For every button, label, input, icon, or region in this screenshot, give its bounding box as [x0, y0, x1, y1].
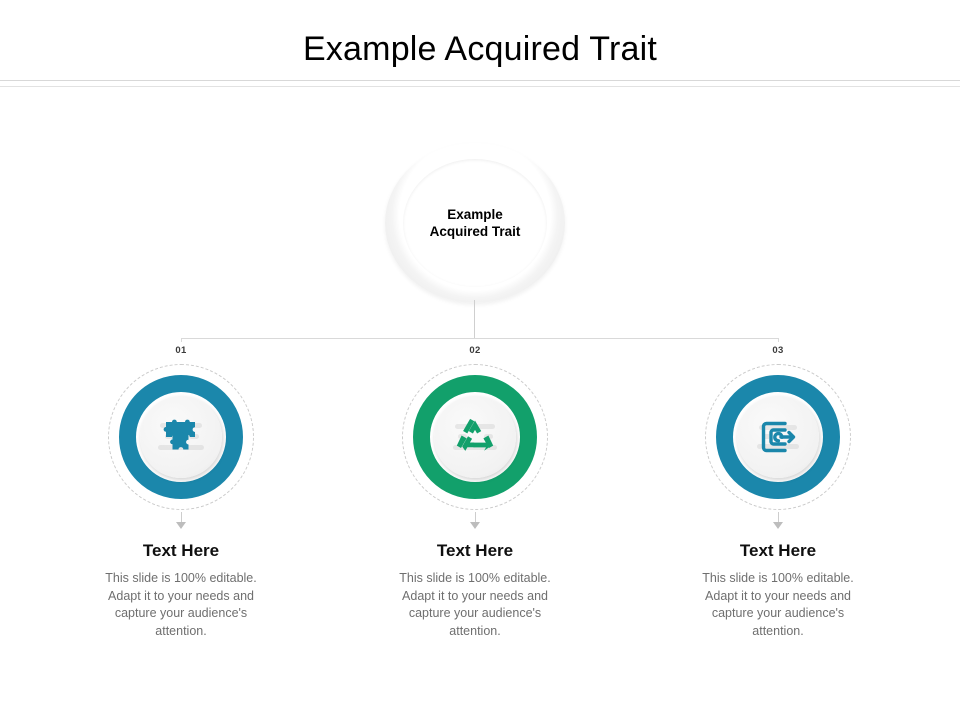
- center-hub-circle[interactable]: Example Acquired Trait: [385, 143, 565, 303]
- marker-arrow-down-icon: [773, 522, 783, 529]
- node-01[interactable]: [108, 364, 254, 510]
- recycling-arrows-icon: [449, 411, 501, 463]
- step-number-02: 02: [355, 344, 595, 358]
- icon-disc-02[interactable]: [434, 396, 516, 478]
- column-heading-02: Text Here: [355, 540, 595, 562]
- page-title: Example Acquired Trait: [0, 28, 960, 70]
- column-heading-01: Text Here: [61, 540, 301, 562]
- rail-cap-right: [778, 338, 779, 342]
- column-body-02: This slide is 100% editable. Adapt it to…: [389, 570, 561, 640]
- hub-vertical-connector: [474, 300, 475, 339]
- step-number-01: 01: [61, 344, 301, 358]
- rail-cap-left: [181, 338, 182, 342]
- column-body-03: This slide is 100% editable. Adapt it to…: [692, 570, 864, 640]
- hub-label: Example Acquired Trait: [430, 206, 521, 240]
- column-body-01: This slide is 100% editable. Adapt it to…: [95, 570, 267, 640]
- marker-02: [355, 512, 595, 538]
- column-01[interactable]: 01: [61, 344, 301, 640]
- header-divider-bottom: [0, 86, 960, 87]
- puzzle-pieces-icon: [155, 411, 207, 463]
- hub-inner-disc: Example Acquired Trait: [403, 159, 547, 287]
- marker-arrow-down-icon: [470, 522, 480, 529]
- header-divider-top: [0, 80, 960, 81]
- icon-disc-03[interactable]: [737, 396, 819, 478]
- marker-01: [61, 512, 301, 538]
- column-03[interactable]: 03: [658, 344, 898, 640]
- icon-disc-01[interactable]: [140, 396, 222, 478]
- step-number-03: 03: [658, 344, 898, 358]
- spiral-exit-arrow-icon: [752, 411, 804, 463]
- marker-arrow-down-icon: [176, 522, 186, 529]
- column-heading-03: Text Here: [658, 540, 898, 562]
- column-02[interactable]: 02: [355, 344, 595, 640]
- node-03[interactable]: [705, 364, 851, 510]
- marker-03: [658, 512, 898, 538]
- node-02[interactable]: [402, 364, 548, 510]
- horizontal-connector-rail: [181, 338, 779, 339]
